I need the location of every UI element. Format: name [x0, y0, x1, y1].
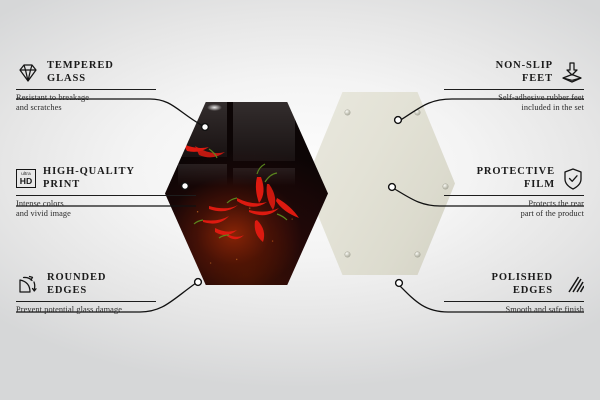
- feature-rule: [444, 301, 584, 302]
- feature-title: PROTECTIVE FILM: [477, 166, 555, 191]
- feature-heading: ROUNDED EDGES: [16, 272, 156, 297]
- feature-protective-film: PROTECTIVE FILM Protects the rear part o…: [444, 166, 584, 219]
- feature-heading: NON-SLIP FEET: [444, 60, 584, 85]
- feature-high-quality-print: ultra HD HIGH-QUALITY PRINT Intense colo…: [16, 166, 196, 219]
- feature-heading: PROTECTIVE FILM: [444, 166, 584, 191]
- feature-rule: [16, 89, 156, 90]
- shield-check-icon: [562, 167, 584, 191]
- feature-description: Self-adhesive rubber feet included in th…: [444, 93, 584, 113]
- feature-description: Prevent potential glass damage: [16, 305, 156, 315]
- rubber-foot: [415, 110, 420, 115]
- feature-non-slip-feet: NON-SLIP FEET Self-adhesive rubber feet …: [444, 60, 584, 113]
- ultra-hd-icon: ultra HD: [16, 169, 36, 188]
- feature-heading: TEMPERED GLASS: [16, 60, 156, 85]
- back-board: [305, 92, 455, 275]
- feature-description: Protects the rear part of the product: [444, 199, 584, 219]
- feature-title: TEMPERED GLASS: [47, 60, 114, 85]
- rubber-foot: [345, 252, 350, 257]
- feature-description: Smooth and safe finish: [444, 305, 584, 315]
- feature-tempered-glass: TEMPERED GLASS Resistant to breakage and…: [16, 60, 156, 113]
- feature-polished-edges: POLISHED EDGES Smooth and safe finish: [444, 272, 584, 315]
- feature-rule: [444, 89, 584, 90]
- feature-title: NON-SLIP FEET: [496, 60, 553, 85]
- product-image: [165, 92, 435, 292]
- feature-heading: POLISHED EDGES: [444, 272, 584, 297]
- feature-title: HIGH-QUALITY PRINT: [43, 166, 135, 191]
- infographic-canvas: TEMPERED GLASS Resistant to breakage and…: [0, 0, 600, 400]
- feature-title: POLISHED EDGES: [492, 272, 553, 297]
- feature-rule: [16, 195, 196, 196]
- rubber-foot: [415, 252, 420, 257]
- shine-lines-icon: [560, 274, 584, 296]
- feature-rule: [16, 301, 156, 302]
- feature-description: Resistant to breakage and scratches: [16, 93, 156, 113]
- press-down-pad-icon: [560, 61, 584, 85]
- diamond-icon: [16, 62, 40, 84]
- feature-rule: [444, 195, 584, 196]
- rubber-foot: [345, 110, 350, 115]
- rounded-corner-icon: [16, 274, 40, 296]
- feature-description: Intense colors and vivid image: [16, 199, 196, 219]
- feature-heading: ultra HD HIGH-QUALITY PRINT: [16, 166, 196, 191]
- feature-title: ROUNDED EDGES: [47, 272, 106, 297]
- feature-rounded-edges: ROUNDED EDGES Prevent potential glass da…: [16, 272, 156, 315]
